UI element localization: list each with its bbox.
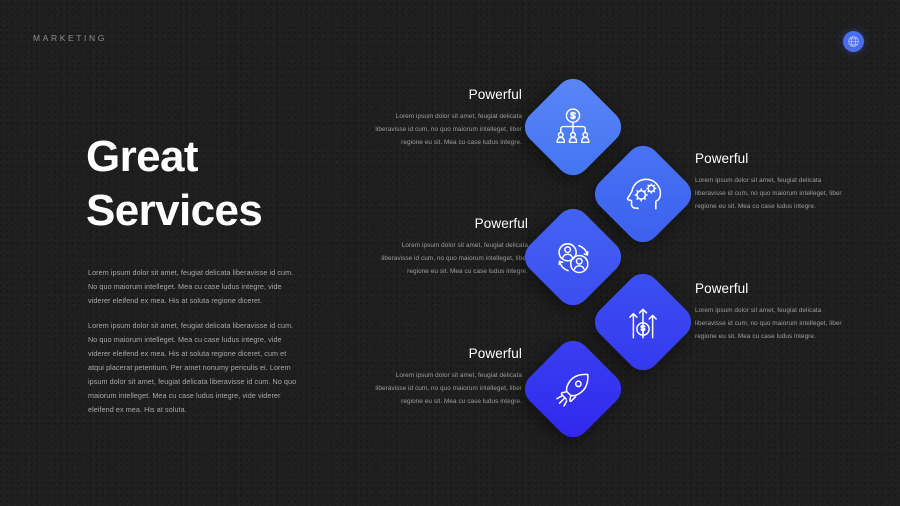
teamwork-people-icon: [552, 236, 595, 279]
feature-title-2: Powerful: [695, 152, 847, 167]
headline-line-2: Services: [86, 184, 262, 238]
feature-title-3: Powerful: [376, 217, 528, 232]
feature-block-3: Powerful Lorem ipsum dolor sit amet, feu…: [376, 217, 528, 278]
feature-title-5: Powerful: [370, 347, 522, 362]
feature-diamond-4[interactable]: [588, 267, 698, 377]
intro-paragraph-1: Lorem ipsum dolor sit amet, feugiat deli…: [88, 266, 304, 308]
feature-diamond-5[interactable]: [518, 334, 628, 444]
money-network-icon: [552, 106, 594, 148]
feature-block-4: Powerful Lorem ipsum dolor sit amet, feu…: [695, 282, 847, 343]
feature-block-5: Powerful Lorem ipsum dolor sit amet, feu…: [370, 347, 522, 408]
feature-desc-5: Lorem ipsum dolor sit amet, feugiat deli…: [370, 369, 522, 408]
growth-arrows-dollar-icon: [622, 301, 664, 343]
page-title: Great Services: [86, 130, 262, 237]
headline-line-1: Great: [86, 130, 262, 184]
presentation-slide: MARKETING Great Services Lorem ipsum dol…: [0, 0, 900, 506]
brain-gears-icon: [621, 172, 665, 216]
feature-desc-4: Lorem ipsum dolor sit amet, feugiat deli…: [695, 304, 847, 343]
feature-desc-1: Lorem ipsum dolor sit amet, feugiat deli…: [370, 110, 522, 149]
feature-title-1: Powerful: [370, 88, 522, 103]
feature-block-1: Powerful Lorem ipsum dolor sit amet, feu…: [370, 88, 522, 149]
feature-title-4: Powerful: [695, 282, 847, 297]
feature-diamond-1[interactable]: [518, 72, 628, 182]
intro-paragraph-2: Lorem ipsum dolor sit amet, feugiat deli…: [88, 319, 304, 417]
feature-block-2: Powerful Lorem ipsum dolor sit amet, feu…: [695, 152, 847, 213]
feature-desc-2: Lorem ipsum dolor sit amet, feugiat deli…: [695, 174, 847, 213]
slide-kicker: MARKETING: [33, 33, 107, 43]
globe-badge-icon: [847, 35, 860, 48]
rocket-icon: [552, 368, 595, 411]
feature-desc-3: Lorem ipsum dolor sit amet, feugiat deli…: [376, 239, 528, 278]
logo-badge[interactable]: [843, 31, 864, 52]
intro-body-text: Lorem ipsum dolor sit amet, feugiat deli…: [88, 266, 304, 417]
